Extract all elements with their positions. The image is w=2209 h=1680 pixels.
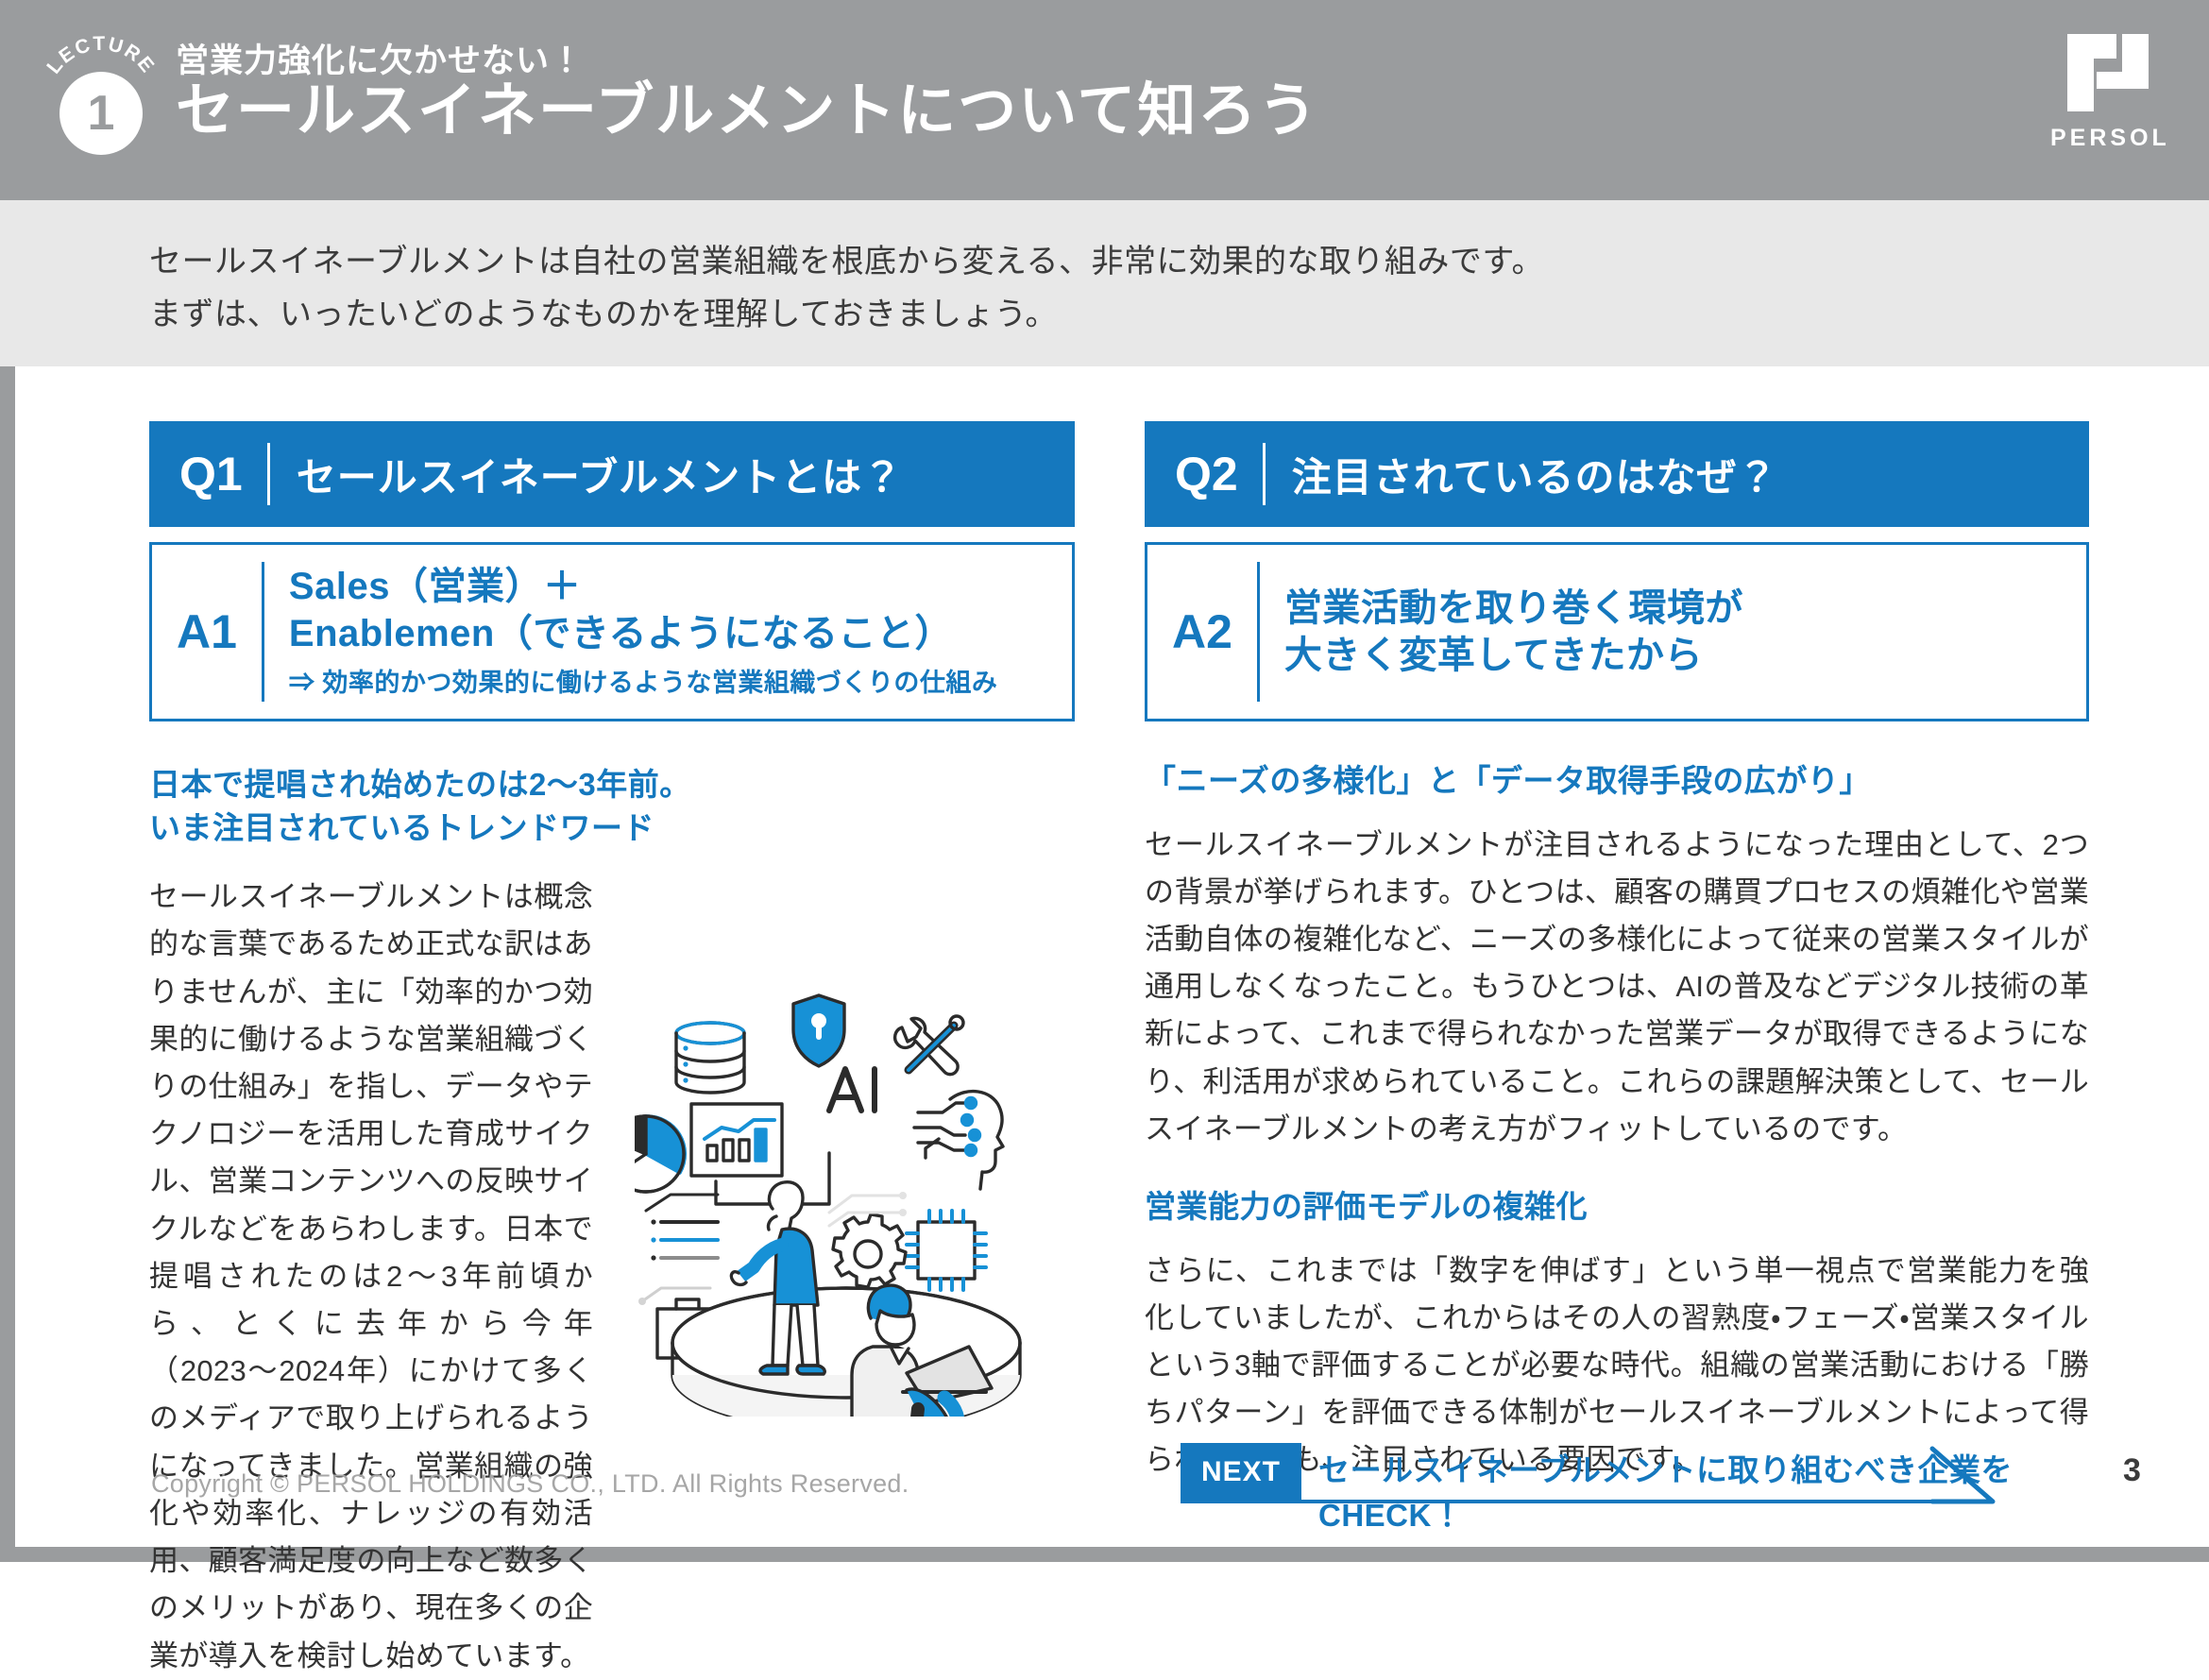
lead-text-line1: セールスイネーブルメントは自社の営業組織を根底から変える、非常に効果的な取り組み… [149, 238, 1544, 286]
right-column: Q2 注目されているのはなぜ？ A2 営業活動を取り巻く環境が 大きく変革してき… [1145, 421, 2089, 1485]
lecture-badge: LECTURE 1 [40, 28, 162, 151]
a1-divider [262, 562, 264, 702]
a1-answer-line2: Enablemen（できるようになること） [289, 610, 1047, 657]
list-lines-icon [646, 1195, 718, 1261]
a1-label: A1 [177, 608, 262, 655]
a2-answer-line1: 営業活動を取り巻く環境が [1284, 585, 2062, 632]
header-eyebrow: 営業力強化に欠かせない！ [176, 34, 584, 82]
page-title: セールスイネーブルメントについて知ろう [176, 77, 1318, 144]
q1-header: Q1 セールスイネーブルメントとは？ [149, 421, 1075, 527]
a1-answer-note: ⇒ 効率的かつ効果的に働けるような営業組織づくりの仕組み [289, 667, 1047, 700]
next-banner-rule [1181, 1500, 1972, 1503]
gear-icon [833, 1214, 906, 1287]
q1-divider [267, 443, 270, 505]
q2-header: Q2 注目されているのはなぜ？ [1145, 421, 2089, 527]
database-icon [676, 1023, 744, 1093]
lecture-number: 1 [59, 72, 143, 155]
q1-label: Q1 [179, 450, 267, 498]
right-section-heading-1: 「ニーズの多様化」と「データ取得手段の広がり」 [1145, 759, 2089, 803]
q2-question-text: 注目されているのはなぜ？ [1292, 446, 1778, 503]
cpu-chip-icon [907, 1211, 986, 1290]
right-section-heading-2: 営業能力の評価モデルの複雑化 [1145, 1185, 2089, 1229]
q2-label: Q2 [1175, 450, 1263, 498]
next-arrow-icon [1927, 1443, 2031, 1509]
persol-wordmark: PERSOL [2050, 125, 2164, 152]
left-section-heading-line2: いま注目されているトレンドワード [149, 806, 1075, 850]
page-header: LECTURE 1 営業力強化に欠かせない！ セールスイネーブルメントについて知… [0, 0, 2209, 200]
a1-answer-line1: Sales（営業）＋ [289, 563, 1047, 610]
pie-chart-icon [635, 1116, 685, 1192]
ai-text-icon [829, 1069, 875, 1111]
a2-label: A2 [1172, 608, 1257, 655]
left-section-heading-line1: 日本で提唱され始めたのは2〜3年前。 [149, 763, 1075, 806]
illustration-svg [635, 969, 1073, 1417]
wrench-screwdriver-icon [895, 1016, 963, 1075]
next-banner[interactable]: NEXT セールスイネーブルメントに取り組むべき企業をCHECK！ [1181, 1443, 2068, 1507]
right-body-paragraph-1: セールスイネーブルメントが注目されるようになった理由として、2つの背景が挙げられ… [1145, 822, 2089, 1154]
a2-answer-box: A2 営業活動を取り巻く環境が 大きく変革してきたから [1145, 542, 2089, 721]
brain-circuit-icon [914, 1092, 1003, 1189]
a1-answer-body: Sales（営業）＋ Enablemen（できるようになること） ⇒ 効率的かつ… [289, 563, 1047, 700]
lead-text-line2: まずは、いったいどのようなものかを理解しておきましょう。 [149, 291, 1058, 339]
persol-logo-mark [2067, 34, 2149, 111]
copyright-text: Copyright © PERSOL HOLDINGS CO., LTD. Al… [151, 1469, 909, 1499]
illustration [635, 969, 1073, 1417]
q1-question-text: セールスイネーブルメントとは？ [297, 446, 903, 503]
next-badge-label: NEXT [1181, 1443, 1301, 1502]
left-body-paragraph: セールスイネーブルメントは概念的な言葉であるため正式な訳はありませんが、主に「効… [149, 874, 593, 1680]
a2-divider [1257, 562, 1260, 702]
shield-lock-icon [793, 995, 844, 1066]
left-edge-strip [0, 366, 15, 1562]
page-number: 3 [2123, 1452, 2141, 1489]
a2-answer-line2: 大きく変革してきたから [1284, 632, 2062, 679]
persol-logo: PERSOL [2050, 34, 2164, 166]
a2-answer-body: 営業活動を取り巻く環境が 大きく変革してきたから [1284, 585, 2062, 679]
bar-chart-icon [691, 1104, 829, 1204]
q2-divider [1263, 443, 1266, 505]
a1-answer-box: A1 Sales（営業）＋ Enablemen（できるようになること） ⇒ 効率… [149, 542, 1075, 721]
